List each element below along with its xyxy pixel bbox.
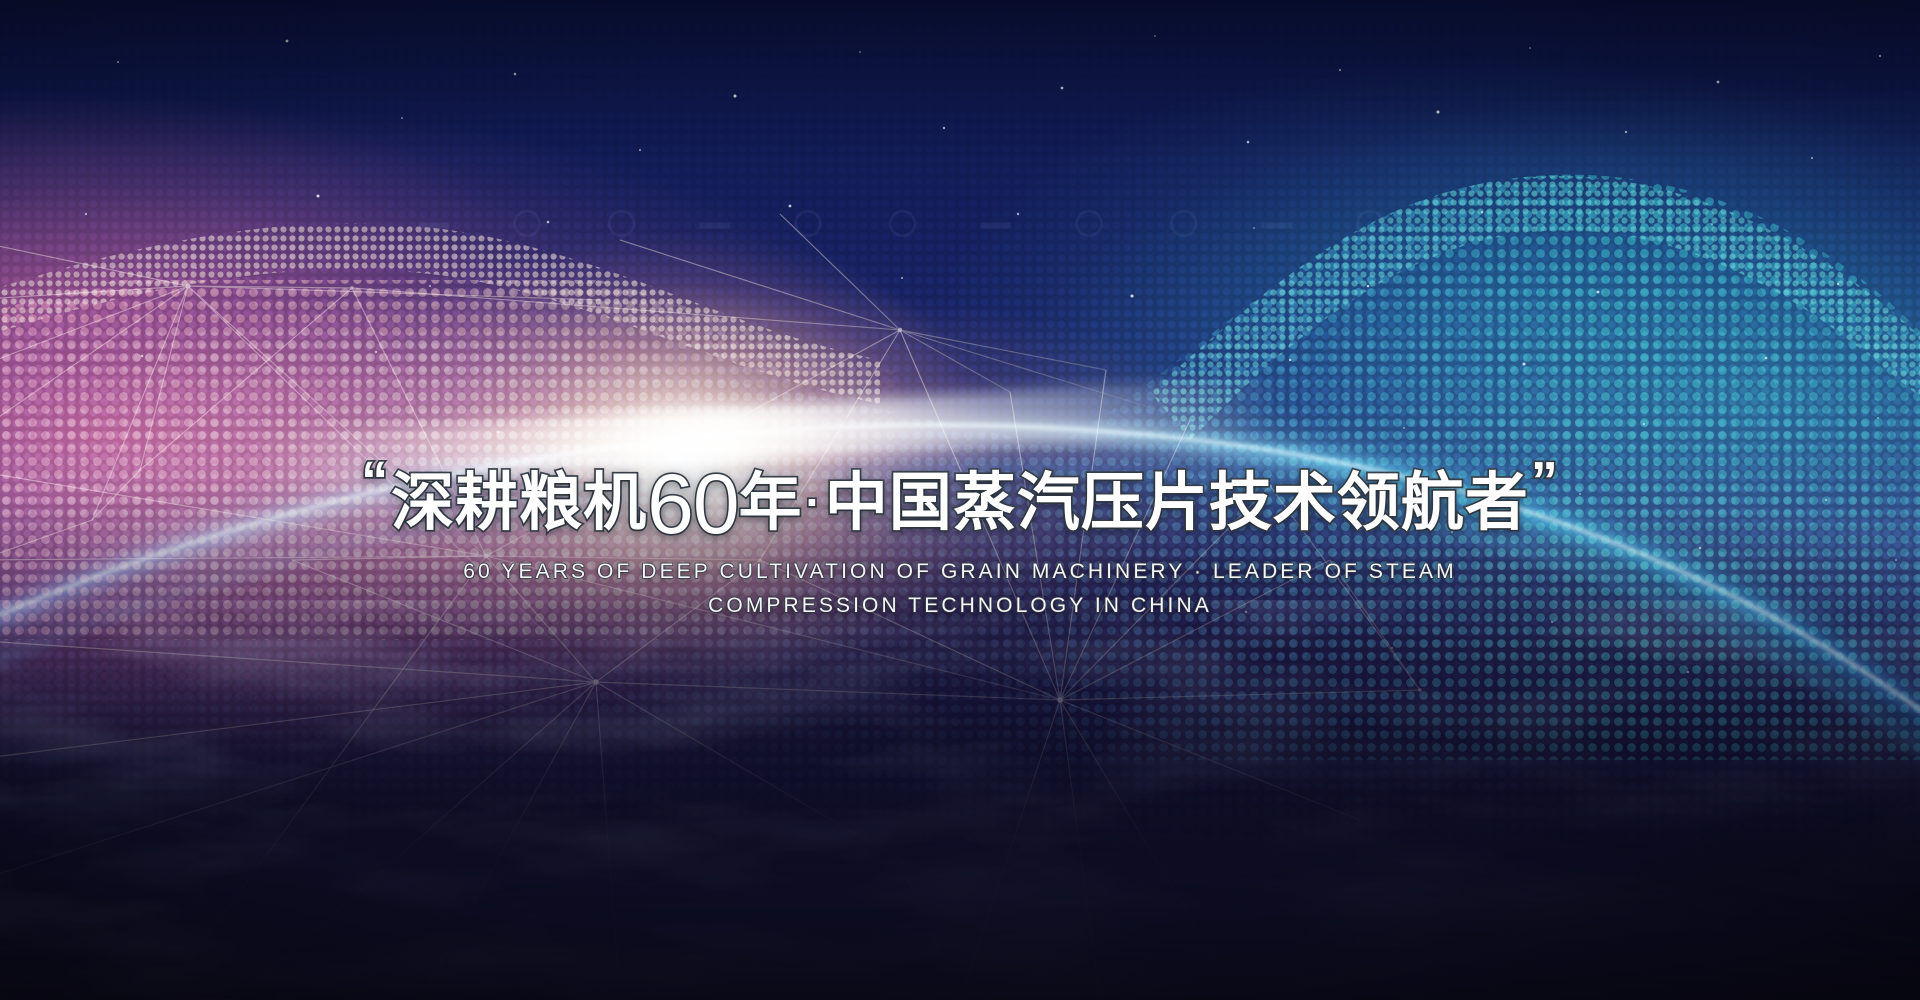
subtitle-line-2: COMPRESSION TECHNOLOGY IN CHINA: [0, 589, 1920, 623]
open-quote-mark: “: [361, 451, 389, 511]
promotional-banner: – ○ ○ – ○ ○ – ○ ○ – ○ ○: [0, 0, 1920, 1000]
headline-separator: ·: [806, 476, 822, 528]
close-quote-mark: ”: [1531, 451, 1559, 511]
page-title: “深耕粮机60年·中国蒸汽压片技术领航者”: [0, 452, 1920, 539]
headline-part-1: 深耕粮机: [391, 468, 647, 538]
headline-part-3: 中国蒸汽压片技术领航者: [825, 468, 1529, 538]
headline-anniversary-number: 60: [647, 457, 738, 551]
subtitle-line-1: 60 YEARS OF DEEP CULTIVATION OF GRAIN MA…: [463, 560, 1456, 583]
headline-part-2: 年: [739, 468, 803, 538]
subtitle-block: 60 YEARS OF DEEP CULTIVATION OF GRAIN MA…: [0, 555, 1920, 623]
ghost-watermark-row: – ○ ○ – ○ ○ – ○ ○ – ○ ○: [0, 176, 1920, 266]
headline-block: “深耕粮机60年·中国蒸汽压片技术领航者” 60 YEARS OF DEEP C…: [0, 452, 1920, 623]
